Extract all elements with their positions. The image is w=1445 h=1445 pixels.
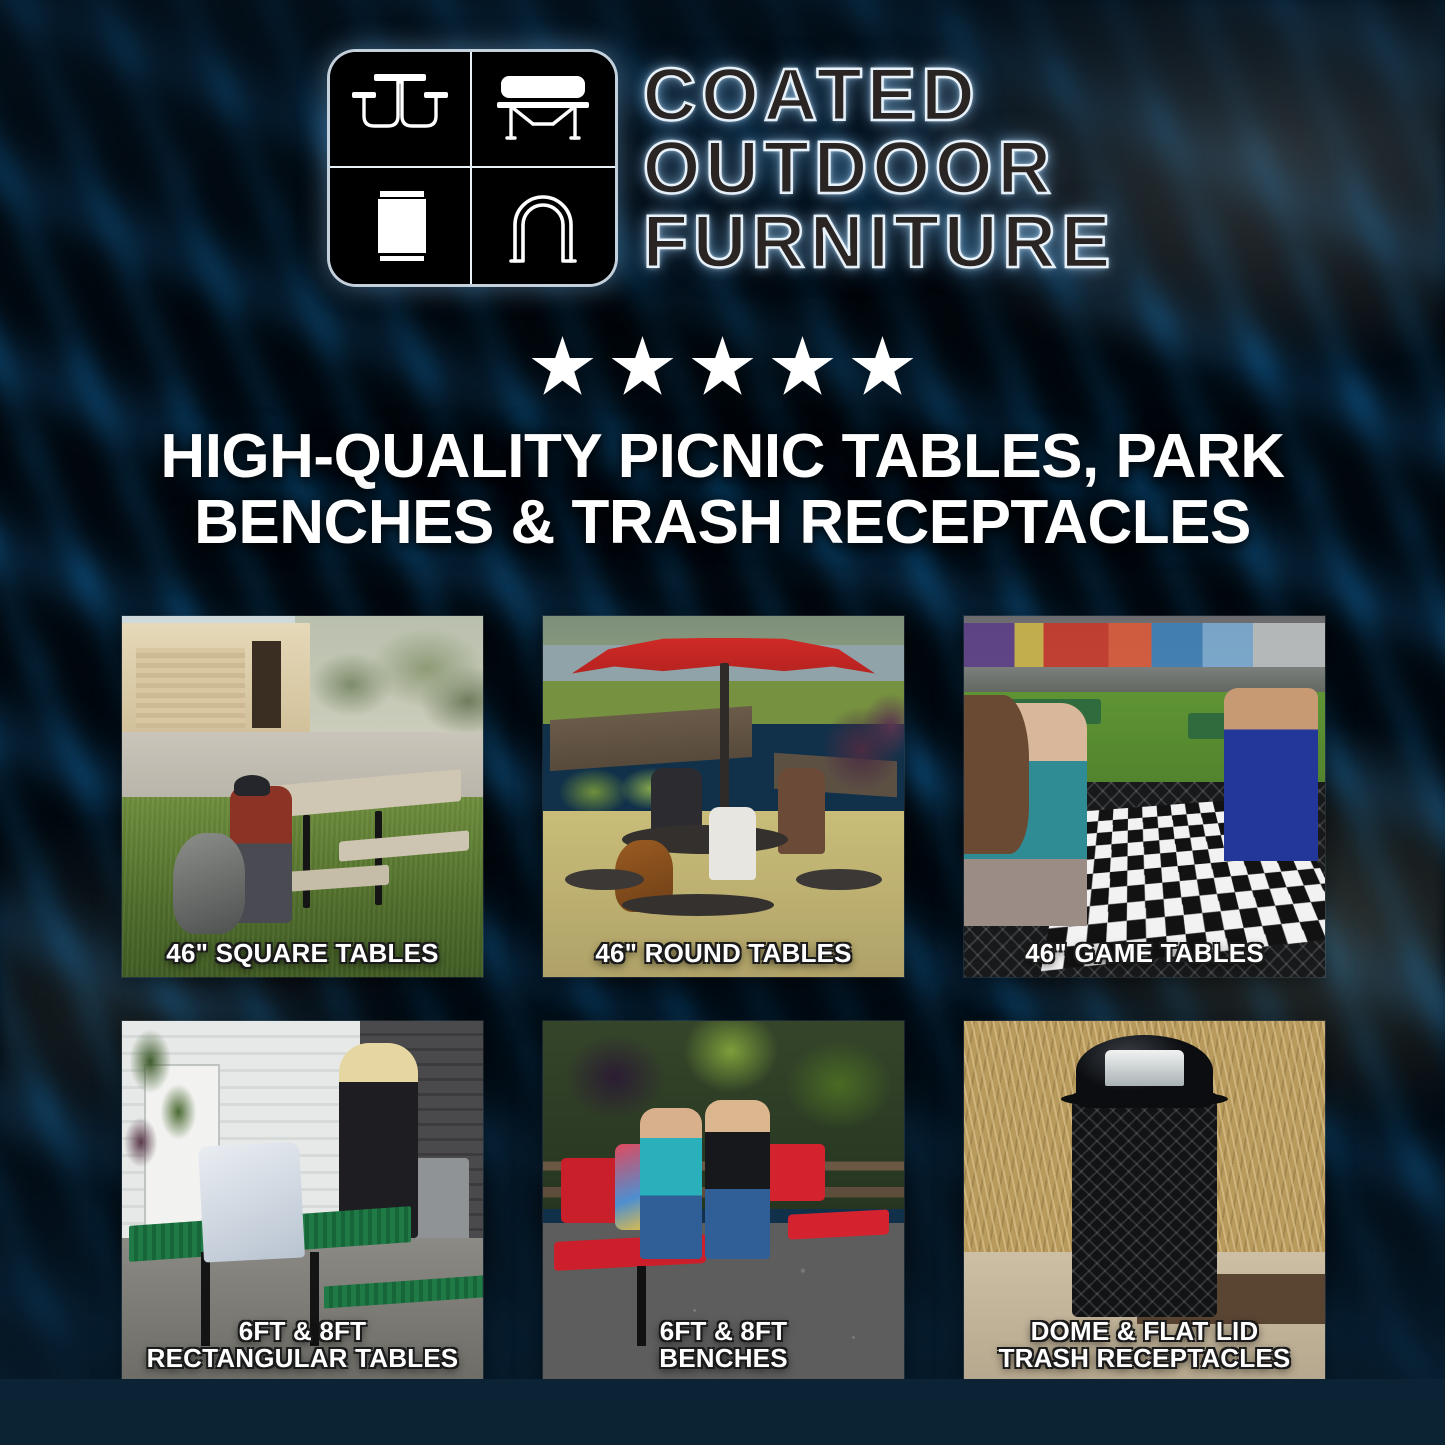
headline-line-2: BENCHES & TRASH RECEPTACLES — [60, 490, 1385, 556]
product-tile-rectangular-tables[interactable]: 6FT & 8FT RECTANGULAR TABLES — [122, 1021, 483, 1382]
headline: HIGH-QUALITY PICNIC TABLES, PARK BENCHES… — [60, 424, 1385, 555]
headline-line-1: HIGH-QUALITY PICNIC TABLES, PARK — [60, 424, 1385, 490]
product-caption-line-2: TRASH RECEPTACLES — [970, 1345, 1319, 1372]
promotional-poster: COATED OUTDOOR FURNITURE HIGH-QUALITY PI… — [0, 0, 1445, 1445]
product-caption-line-1: 46" GAME TABLES — [1025, 938, 1264, 968]
bike-rack-icon — [472, 168, 615, 284]
product-photo-square-tables — [122, 616, 483, 977]
product-caption: 6FT & 8FT RECTANGULAR TABLES — [128, 1318, 477, 1372]
product-caption: 46" SQUARE TABLES — [128, 940, 477, 967]
product-caption-line-1: 46" SQUARE TABLES — [166, 938, 438, 968]
product-photo-round-tables — [543, 616, 904, 977]
bench-side-icon — [472, 52, 615, 168]
product-caption: 46" ROUND TABLES — [549, 940, 898, 967]
bottom-band — [0, 1379, 1445, 1445]
star-icon — [532, 336, 594, 398]
product-caption: DOME & FLAT LID TRASH RECEPTACLES — [970, 1318, 1319, 1372]
star-icon — [772, 336, 834, 398]
product-caption-line-1: 46" ROUND TABLES — [595, 938, 851, 968]
product-caption: 6FT & 8FT BENCHES — [549, 1318, 898, 1372]
brand-logo: COATED OUTDOOR FURNITURE — [0, 52, 1445, 284]
product-grid: 46" SQUARE TABLES — [122, 616, 1325, 1382]
product-caption-line-2: BENCHES — [549, 1345, 898, 1372]
product-photo-game-tables — [964, 616, 1325, 977]
product-caption-line-1: 6FT & 8FT — [660, 1316, 787, 1346]
product-caption-line-1: DOME & FLAT LID — [1031, 1316, 1259, 1346]
star-icon — [612, 336, 674, 398]
picnic-table-front-icon — [330, 52, 473, 168]
brand-wordmark: COATED OUTDOOR FURNITURE — [643, 59, 1116, 276]
brand-name-line-2: OUTDOOR — [643, 132, 1116, 203]
product-caption: 46" GAME TABLES — [970, 940, 1319, 967]
product-caption-line-2: RECTANGULAR TABLES — [128, 1345, 477, 1372]
brand-name-line-1: COATED — [643, 59, 1116, 130]
trash-receptacle-icon — [330, 168, 473, 284]
product-tile-game-tables[interactable]: 46" GAME TABLES — [964, 616, 1325, 977]
product-tile-round-tables[interactable]: 46" ROUND TABLES — [543, 616, 904, 977]
product-tile-benches[interactable]: 6FT & 8FT BENCHES — [543, 1021, 904, 1382]
product-tile-trash-receptacles[interactable]: DOME & FLAT LID TRASH RECEPTACLES — [964, 1021, 1325, 1382]
star-icon — [692, 336, 754, 398]
product-caption-line-1: 6FT & 8FT — [239, 1316, 366, 1346]
star-rating — [0, 336, 1445, 398]
logo-icon-grid — [330, 52, 615, 284]
star-icon — [852, 336, 914, 398]
product-tile-square-tables[interactable]: 46" SQUARE TABLES — [122, 616, 483, 977]
brand-name-line-3: FURNITURE — [643, 206, 1116, 277]
